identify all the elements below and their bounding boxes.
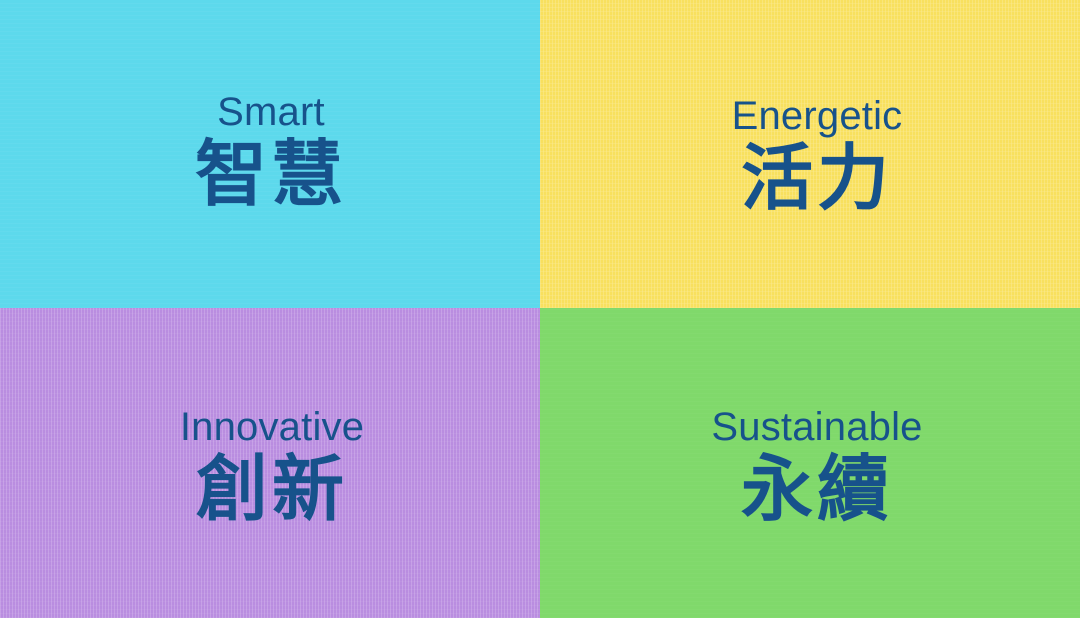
panel-sustainable: Sustainable 永續 (540, 308, 1080, 618)
panel-smart-english-label: Smart (217, 92, 325, 132)
panel-innovative-text-stack: Innovative 創新 (180, 407, 364, 525)
panel-smart: Smart 智慧 (0, 0, 540, 308)
panel-innovative-english-label: Innovative (180, 407, 364, 447)
panel-energetic-english-label: Energetic (732, 96, 903, 136)
panel-smart-chinese-label: 智慧 (195, 138, 347, 210)
panel-energetic-chinese-label: 活力 (741, 142, 893, 214)
panel-sustainable-english-label: Sustainable (711, 407, 922, 447)
panel-innovative: Innovative 創新 (0, 308, 540, 618)
panel-sustainable-chinese-label: 永續 (741, 453, 893, 525)
panel-sustainable-text-stack: Sustainable 永續 (711, 407, 922, 525)
panel-energetic-text-stack: Energetic 活力 (732, 96, 903, 214)
brand-values-grid: Smart 智慧 Energetic 活力 Innovative 創新 Sust… (0, 0, 1080, 618)
panel-smart-text-stack: Smart 智慧 (195, 92, 347, 210)
panel-innovative-chinese-label: 創新 (196, 453, 348, 525)
panel-energetic: Energetic 活力 (540, 0, 1080, 308)
